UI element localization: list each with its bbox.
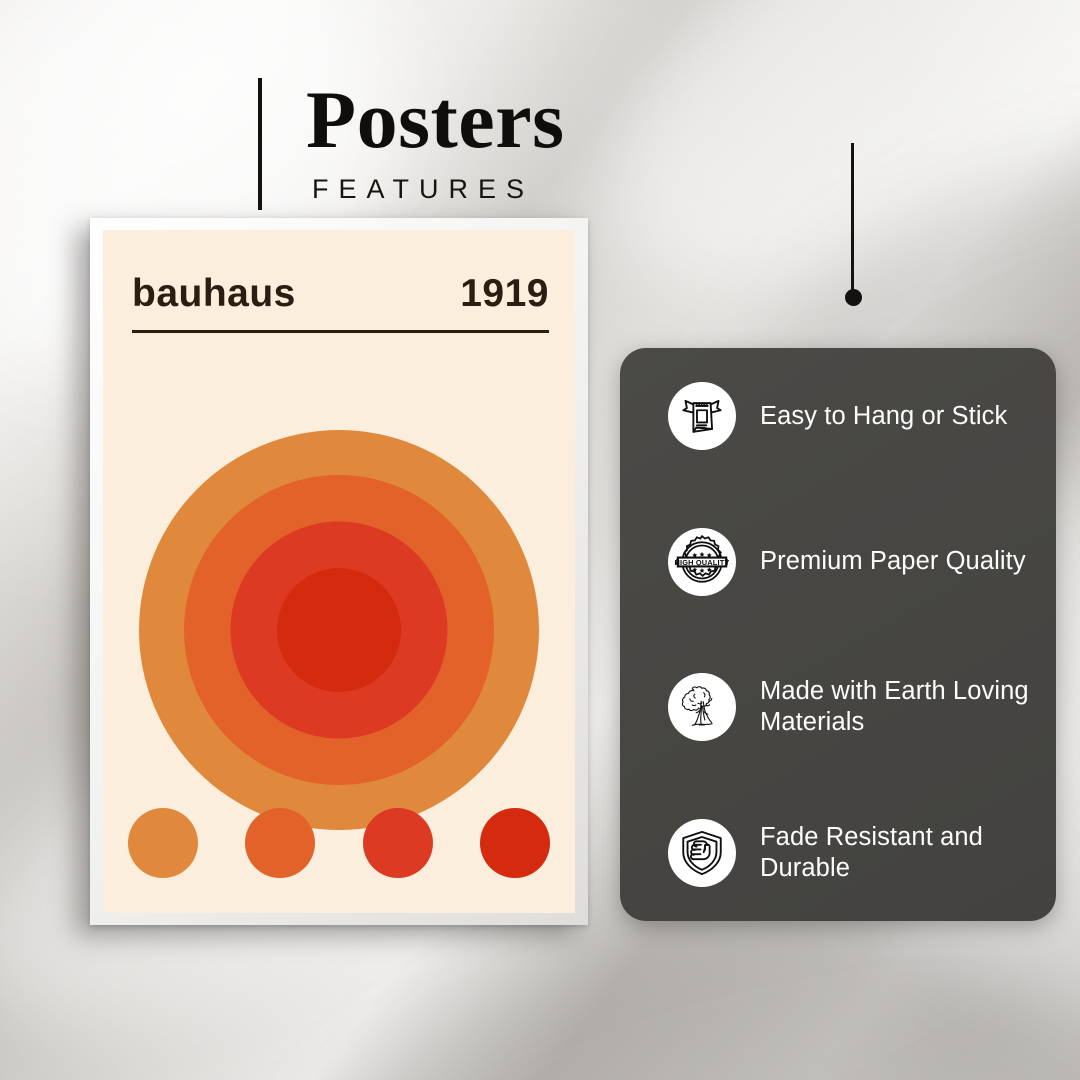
page-subtitle: FEATURES [312, 174, 565, 205]
concentric-circles-graphic [139, 430, 539, 830]
pin-marker [845, 143, 861, 318]
poster-artwork: bauhaus 1919 [90, 218, 588, 925]
poster-header: bauhaus 1919 [132, 272, 549, 316]
badge-text: HIGH QUALITY [674, 558, 729, 567]
swatch-1 [128, 808, 198, 878]
swatch-3 [363, 808, 433, 878]
swatch-4 [480, 808, 550, 878]
feature-item-premium-paper: HIGH QUALITY Premium Paper Quality [668, 528, 1034, 596]
tree-icon [668, 673, 736, 741]
feature-label: Fade Resistant and Durable [760, 822, 1034, 884]
features-panel: Easy to Hang or Stick [620, 348, 1056, 921]
poster-frame: bauhaus 1919 [90, 218, 588, 925]
poster-brand: bauhaus [132, 272, 296, 316]
feature-item-easy-to-hang: Easy to Hang or Stick [668, 382, 1034, 450]
feature-item-earth-loving: Made with Earth Loving Materials [668, 673, 1034, 741]
poster-mockup-scene: Posters FEATURES bauhaus 1919 [0, 0, 1080, 1080]
background-shadow-streak [528, 0, 1080, 386]
high-quality-badge-icon: HIGH QUALITY [668, 528, 736, 596]
feature-list: Easy to Hang or Stick [668, 382, 1034, 887]
poster-divider [132, 330, 549, 333]
pin-line [851, 143, 854, 298]
feature-item-fade-resistant: Fade Resistant and Durable [668, 819, 1034, 887]
header: Posters FEATURES [258, 78, 565, 210]
poster-year: 1919 [460, 272, 549, 316]
color-swatch-row [128, 808, 550, 878]
feature-label: Premium Paper Quality [760, 546, 1026, 577]
poster-canvas: bauhaus 1919 [103, 230, 575, 913]
page-title: Posters [306, 78, 565, 160]
ring-inner [277, 568, 401, 692]
shield-fist-icon [668, 819, 736, 887]
feature-label: Made with Earth Loving Materials [760, 676, 1034, 738]
pin-dot-icon [845, 289, 862, 306]
header-vertical-rule [258, 78, 262, 210]
hanging-poster-icon [668, 382, 736, 450]
swatch-2 [245, 808, 315, 878]
feature-label: Easy to Hang or Stick [760, 401, 1007, 432]
header-text-block: Posters FEATURES [306, 78, 565, 210]
